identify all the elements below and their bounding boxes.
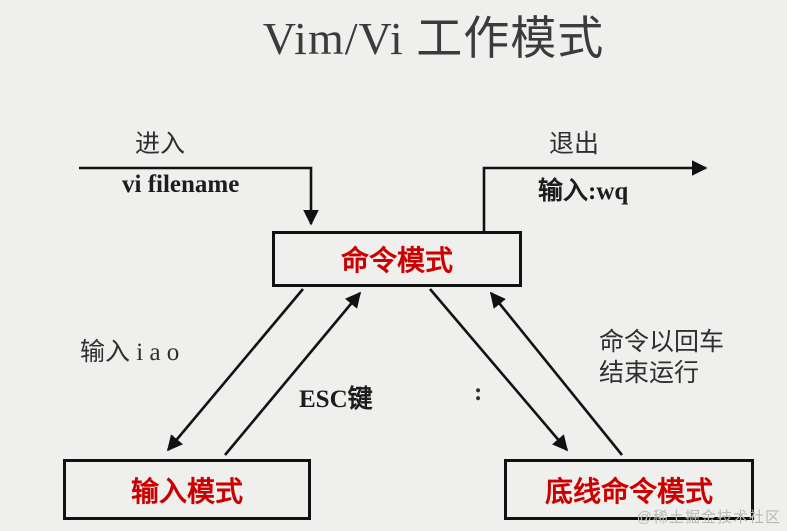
edge-command-to-insert (168, 289, 303, 450)
label-enter-run: 命令以回车 结束运行 (599, 327, 724, 390)
node-insert-mode-label: 输入模式 (131, 470, 243, 510)
node-lastline-mode-label: 底线命令模式 (545, 470, 713, 510)
diagram-canvas: Vim/Vi 工作模式 (0, 0, 787, 531)
node-command-mode[interactable]: 命令模式 (272, 231, 522, 287)
node-insert-mode[interactable]: 输入模式 (63, 459, 311, 520)
edge-command-to-lastline (430, 289, 567, 450)
watermark: @稀土掘金技术社区 (637, 506, 781, 527)
label-insert-keys: 输入 i a o (80, 332, 179, 368)
label-vi-filename: vi filename (122, 171, 239, 199)
edge-insert-to-command (225, 293, 360, 455)
label-enter: 进入 (135, 124, 185, 160)
label-write-quit: 输入:wq (538, 171, 628, 207)
label-esc-key: ESC键 (299, 379, 373, 415)
label-enter-run-line2: 结束运行 (599, 358, 724, 389)
node-command-mode-label: 命令模式 (341, 239, 453, 279)
label-exit: 退出 (549, 124, 599, 160)
label-enter-run-line1: 命令以回车 (599, 329, 724, 356)
label-colon: : (474, 379, 482, 407)
